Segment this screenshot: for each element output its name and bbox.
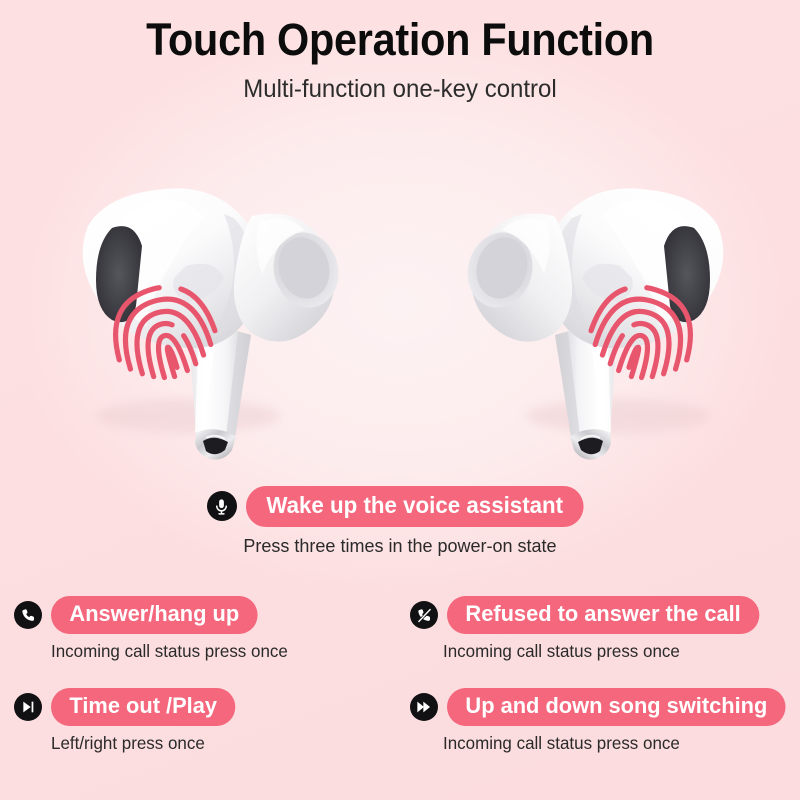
earbud-metal-tip: [195, 429, 236, 459]
voice-assistant-label[interactable]: Wake up the voice assistant: [246, 486, 583, 527]
earbud-shadow: [96, 399, 280, 433]
voice-assistant-row[interactable]: Wake up the voice assistant: [207, 486, 594, 527]
page-subtitle: Multi-function one-key control: [16, 75, 784, 104]
function-item-switch: Up and down song switching Incoming call…: [400, 688, 800, 754]
infographic-page: Touch Operation Function Multi-function …: [0, 0, 800, 800]
play-skip-icon: [14, 693, 42, 721]
earbud-metal-tip: [570, 429, 611, 459]
function-answer-caption: Incoming call status press once: [51, 641, 288, 662]
earbud-ear-tip: [234, 214, 347, 342]
wireless-earbud-left: [38, 148, 368, 478]
function-play-row[interactable]: Time out /Play: [14, 688, 241, 726]
function-refuse-label[interactable]: Refused to answer the call: [447, 596, 759, 634]
function-row-1: Answer/hang up Incoming call status pres…: [0, 596, 800, 662]
voice-assistant-callout: Wake up the voice assistant Press three …: [0, 486, 800, 557]
page-title: Touch Operation Function: [32, 16, 768, 63]
phone-handset-icon: [14, 601, 42, 629]
function-item-play: Time out /Play Left/right press once: [0, 688, 400, 754]
earbud-shadow: [526, 399, 710, 433]
function-switch-caption: Incoming call status press once: [443, 733, 786, 754]
function-item-answer: Answer/hang up Incoming call status pres…: [0, 596, 400, 662]
function-refuse-caption: Incoming call status press once: [443, 641, 759, 662]
function-item-refuse: Refused to answer the call Incoming call…: [400, 596, 800, 662]
phone-decline-icon: [410, 601, 438, 629]
function-answer-label[interactable]: Answer/hang up: [51, 596, 258, 634]
function-play-label[interactable]: Time out /Play: [51, 688, 235, 726]
voice-assistant-caption: Press three times in the power-on state: [243, 536, 556, 557]
header: Touch Operation Function Multi-function …: [0, 16, 800, 104]
fast-forward-icon: [410, 693, 438, 721]
function-refuse-row[interactable]: Refused to answer the call: [410, 596, 769, 634]
function-row-2: Time out /Play Left/right press once: [0, 688, 800, 754]
function-grid: Answer/hang up Incoming call status pres…: [0, 596, 800, 754]
function-switch-row[interactable]: Up and down song switching: [410, 688, 796, 726]
product-illustration: [0, 140, 800, 480]
function-switch-label[interactable]: Up and down song switching: [447, 688, 786, 726]
wireless-earbud-right: [438, 148, 768, 478]
function-answer-row[interactable]: Answer/hang up: [14, 596, 295, 634]
microphone-icon: [207, 491, 237, 521]
function-play-caption: Left/right press once: [51, 733, 235, 754]
earbud-ear-tip: [459, 214, 572, 342]
